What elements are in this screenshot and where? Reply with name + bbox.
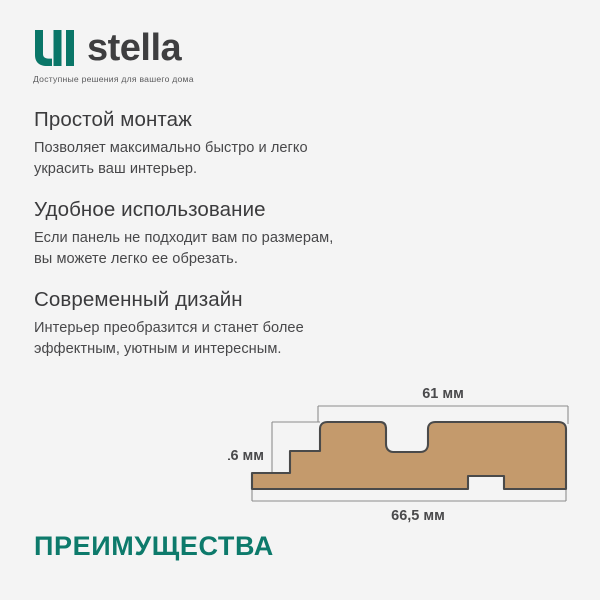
feature-item-usage: Удобное использование Если панель не под… [34, 198, 464, 269]
brand-name: stella [87, 29, 181, 67]
feature-item-design: Современный дизайн Интерьер преобразится… [34, 288, 464, 359]
stella-logo-mark-icon [33, 30, 77, 66]
dimension-label-width: 61 мм [422, 386, 464, 402]
logo-row: stella [33, 27, 363, 69]
feature-list: Простой монтаж Позволяет максимально быс… [34, 108, 464, 378]
feature-text: Если панель не подходит вам по размерам,… [34, 228, 464, 269]
page-root: stella Доступные решения для вашего дома… [0, 0, 600, 600]
dimension-label-height: 16 мм [228, 448, 264, 464]
benefits-heading: ПРЕИМУЩЕСТВА [34, 530, 274, 562]
brand-tagline: Доступные решения для вашего дома [33, 74, 363, 84]
panel-cross-section-diagram: 61 мм 16 мм 66,5 мм [228, 378, 588, 523]
feature-text: Интерьер преобразится и станет более эфф… [34, 318, 464, 359]
panel-cross-section-svg: 61 мм 16 мм 66,5 мм [228, 378, 588, 523]
feature-title: Современный дизайн [34, 288, 464, 312]
brand-logo: stella Доступные решения для вашего дома [33, 27, 363, 84]
feature-title: Удобное использование [34, 198, 464, 222]
feature-text: Позволяет максимально быстро и легко укр… [34, 138, 464, 179]
dimension-bottom-66-5mm [252, 490, 566, 501]
feature-title: Простой монтаж [34, 108, 464, 132]
dimension-label-total-width: 66,5 мм [391, 508, 445, 523]
feature-item-installation: Простой монтаж Позволяет максимально быс… [34, 108, 464, 179]
panel-profile-shape [252, 422, 566, 489]
